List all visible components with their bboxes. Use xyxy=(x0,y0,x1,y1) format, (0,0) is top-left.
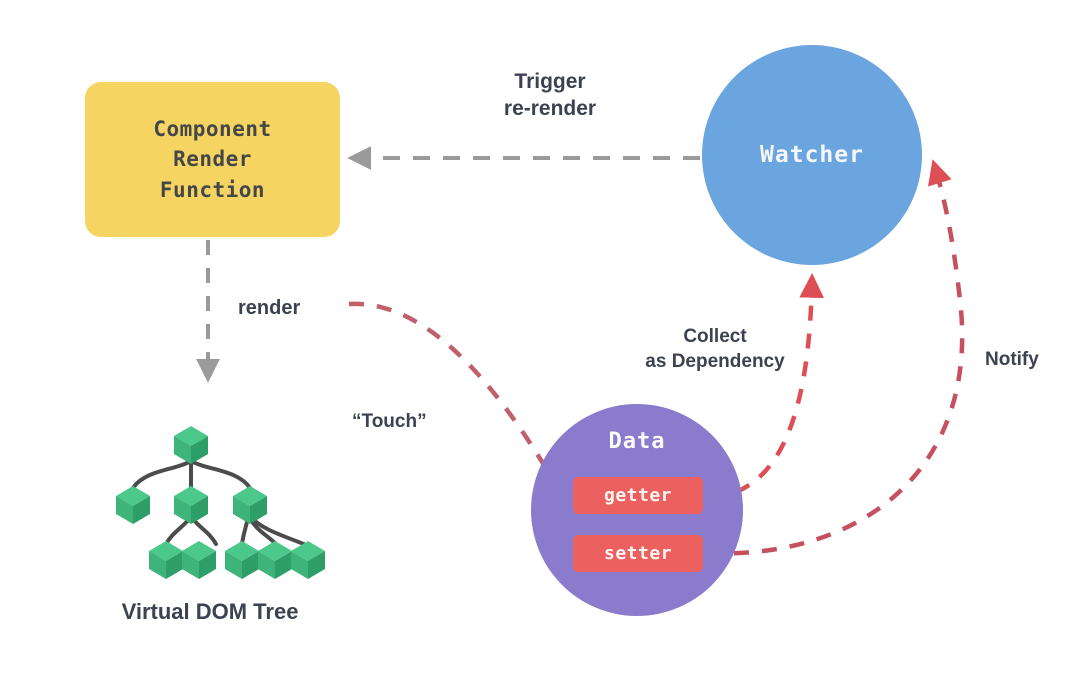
tree-node-cube xyxy=(116,486,150,524)
edge-label-trigger-re-render: Trigger re-render xyxy=(470,68,630,123)
setter-label: setter xyxy=(604,543,672,564)
edge-label-touch: “Touch” xyxy=(352,410,427,435)
diagram-canvas: Component Render Function Watcher Data g… xyxy=(0,0,1080,675)
virtual-dom-tree-label: Virtual DOM Tree xyxy=(75,598,345,627)
getter-box[interactable]: getter xyxy=(573,477,703,514)
data-label: Data xyxy=(531,429,743,454)
edge-touch xyxy=(349,304,560,492)
edge-collect-as-dependency xyxy=(736,278,812,492)
data-node[interactable]: Data getter setter xyxy=(531,404,743,616)
tree-node-cube xyxy=(174,486,208,524)
edge-label-collect-as-dependency: Collect as Dependency xyxy=(630,325,800,374)
edge-label-render: render xyxy=(238,295,300,321)
tree-node-cube xyxy=(258,541,292,579)
component-render-function-node[interactable]: Component Render Function xyxy=(85,82,340,237)
watcher-node[interactable]: Watcher xyxy=(702,45,922,265)
setter-box[interactable]: setter xyxy=(573,535,703,572)
virtual-dom-tree-graphic xyxy=(116,426,325,579)
tree-node-cube xyxy=(225,541,259,579)
tree-node-cube xyxy=(174,426,208,464)
watcher-label: Watcher xyxy=(760,142,864,168)
getter-label: getter xyxy=(604,485,672,506)
tree-node-cube xyxy=(149,541,183,579)
edge-label-notify: Notify xyxy=(985,348,1039,373)
tree-node-cube xyxy=(291,541,325,579)
component-render-function-label: Component Render Function xyxy=(153,114,271,205)
tree-node-cube xyxy=(182,541,216,579)
tree-node-cube xyxy=(233,486,267,524)
